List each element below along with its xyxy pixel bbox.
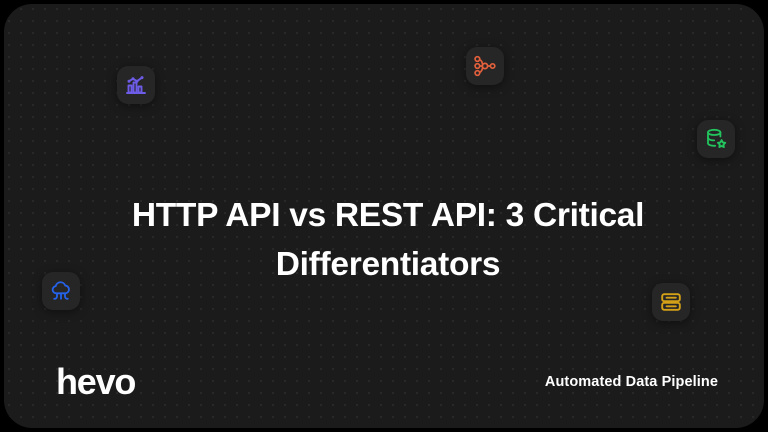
bar-chart-analytics-icon [124, 73, 148, 97]
bar-chart-analytics-tile [117, 66, 155, 104]
tagline: Automated Data Pipeline [545, 375, 718, 390]
cloud-network-icon [49, 279, 73, 303]
node-graph-tile [466, 47, 504, 85]
page-title: HTTP API vs REST API: 3 Critical Differe… [88, 192, 688, 289]
database-star-tile [697, 120, 735, 158]
cloud-network-tile [42, 272, 80, 310]
server-stack-icon [659, 290, 683, 314]
database-star-icon [704, 127, 728, 151]
promo-banner: HTTP API vs REST API: 3 Critical Differe… [0, 0, 768, 432]
hevo-logo: hevo [56, 364, 135, 400]
node-graph-icon [473, 54, 497, 78]
banner-card: HTTP API vs REST API: 3 Critical Differe… [4, 4, 764, 428]
